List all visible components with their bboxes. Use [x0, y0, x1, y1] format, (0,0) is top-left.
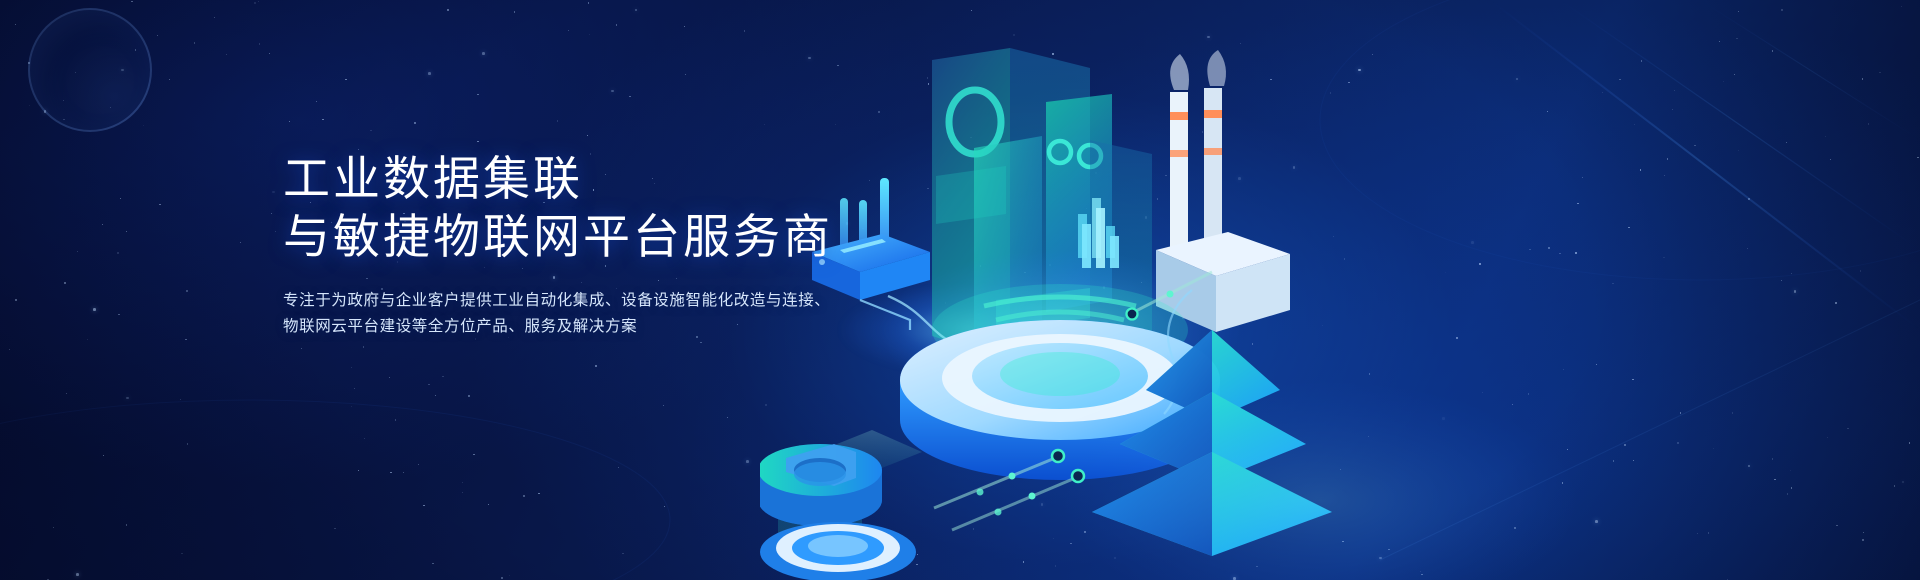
headline-line-1: 工业数据集联	[283, 150, 923, 208]
subtitle-line-1: 专注于为政府与企业客户提供工业自动化集成、设备设施智能化改造与连接、	[283, 288, 923, 314]
small-disc-platform	[760, 522, 916, 580]
headline-line-2: 与敏捷物联网平台服务商	[283, 208, 923, 266]
hero-illustration	[760, 0, 1920, 580]
hero-banner: 工业数据集联 与敏捷物联网平台服务商 专注于为政府与企业客户提供工业自动化集成、…	[0, 0, 1920, 580]
subtitle-line-2: 物联网云平台建设等全方位产品、服务及解决方案	[283, 314, 923, 340]
hero-copy: 工业数据集联 与敏捷物联网平台服务商 专注于为政府与企业客户提供工业自动化集成、…	[283, 150, 923, 340]
